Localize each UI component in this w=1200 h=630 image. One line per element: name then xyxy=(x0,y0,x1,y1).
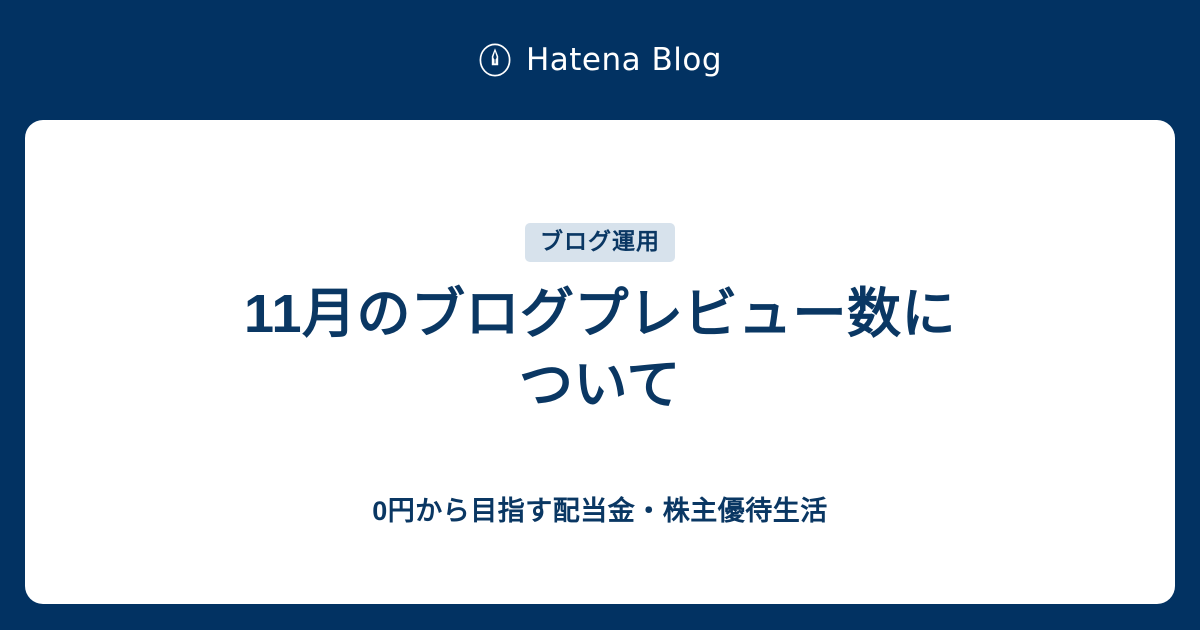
pen-nib-circle-icon xyxy=(478,43,512,77)
category-tag-badge[interactable]: ブログ運用 xyxy=(525,223,675,262)
hatena-blog-brand-header: Hatena Blog xyxy=(0,0,1200,120)
category-tag-row: ブログ運用 xyxy=(230,223,970,262)
entry-card: ブログ運用 11月のブログプレビュー数について 0円から目指す配当金・株主優待生… xyxy=(25,120,1175,604)
entry-title: 11月のブログプレビュー数について xyxy=(230,279,970,422)
hatena-blog-wordmark: Hatena Blog xyxy=(526,45,722,76)
entry-card-inner: ブログ運用 11月のブログプレビュー数について 0円から目指す配当金・株主優待生… xyxy=(230,120,970,529)
blog-name: 0円から目指す配当金・株主優待生活 xyxy=(230,494,970,529)
